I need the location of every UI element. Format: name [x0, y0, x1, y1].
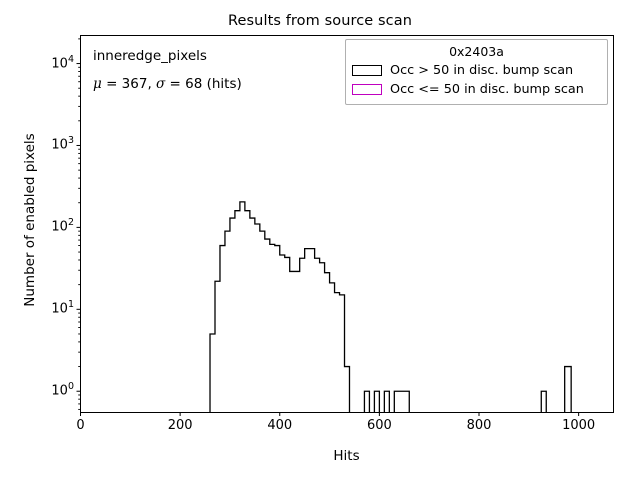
y-tick-label: 100 — [36, 384, 74, 399]
y-tick-label: 101 — [36, 302, 74, 317]
y-tick-label: 104 — [36, 56, 74, 71]
legend-swatch-magenta — [352, 84, 382, 95]
legend-label-occ-gt-50: Occ > 50 in disc. bump scan — [390, 63, 573, 78]
legend-swatch-black — [352, 65, 382, 76]
x-tick-label: 600 — [367, 418, 392, 433]
below-axis-mask — [0, 413, 640, 480]
x-tick-label: 800 — [467, 418, 492, 433]
x-axis-label: Hits — [80, 448, 613, 464]
histogram-step-occ-gt-50 — [210, 202, 571, 413]
legend-entry-occ-le-50: Occ <= 50 in disc. bump scan — [352, 80, 601, 99]
legend-title: 0x2403a — [352, 44, 601, 61]
legend-entry-occ-gt-50: Occ > 50 in disc. bump scan — [352, 61, 601, 80]
dataset-stats-annotation: μ = 367, σ = 68 (hits) — [93, 76, 242, 92]
legend-label-occ-le-50: Occ <= 50 in disc. bump scan — [390, 82, 584, 97]
figure-canvas: Results from source scan Hits Number of … — [0, 0, 640, 480]
x-tick-label: 1000 — [562, 418, 595, 433]
y-tick-label: 102 — [36, 220, 74, 235]
legend-box: 0x2403a Occ > 50 in disc. bump scan Occ … — [345, 39, 608, 105]
x-tick-label: 0 — [76, 418, 84, 433]
dataset-name-annotation: inneredge_pixels — [93, 48, 207, 64]
x-tick-label: 400 — [267, 418, 292, 433]
chart-title: Results from source scan — [0, 13, 640, 29]
y-tick-label: 103 — [36, 138, 74, 153]
x-tick-label: 200 — [168, 418, 193, 433]
